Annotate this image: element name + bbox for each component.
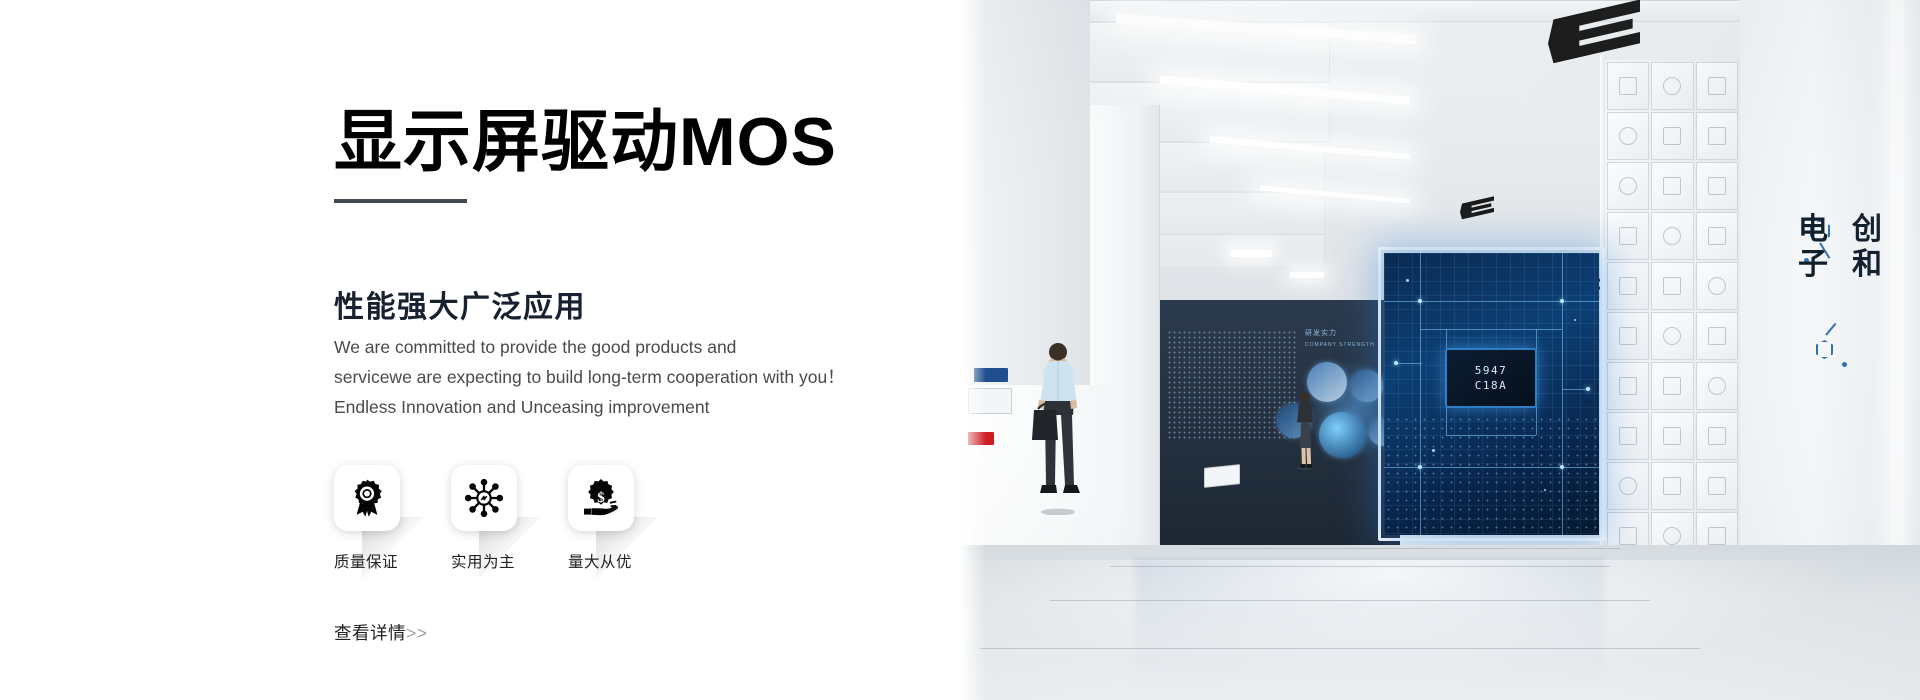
product-tile (1607, 162, 1649, 210)
floor-seam (1110, 566, 1610, 567)
product-tile (1607, 462, 1649, 510)
product-tile (1696, 362, 1738, 410)
product-tile (1607, 112, 1649, 160)
product-glyph-icon (1708, 177, 1726, 195)
floor-seam (980, 648, 1700, 649)
circuit-node (1560, 299, 1564, 303)
product-glyph-icon (1619, 427, 1637, 445)
floor-signage (1204, 464, 1240, 488)
hexagon-icon (1816, 340, 1833, 359)
product-glyph-icon (1619, 177, 1637, 195)
product-glyph-icon (1708, 377, 1726, 395)
product-tile (1696, 312, 1738, 360)
product-tile (1651, 462, 1693, 510)
circuit-node (1394, 361, 1398, 365)
product-glyph-icon (1619, 477, 1637, 495)
product-tile-wall (1605, 60, 1740, 560)
product-glyph-icon (1708, 277, 1726, 295)
banner-description: We are committed to provide the good pro… (334, 332, 894, 422)
feature-item-quality[interactable]: 质量保证 (334, 465, 423, 572)
product-tile (1696, 462, 1738, 510)
svg-text:$: $ (597, 490, 605, 506)
feature-badge (451, 465, 517, 531)
exhibit-title: 研发实力 (1305, 328, 1337, 338)
product-glyph-icon (1663, 127, 1681, 145)
banner-content: 显示屏驱动MOS 性能强大广泛应用 We are committed to pr… (334, 0, 934, 700)
product-tile (1696, 212, 1738, 260)
exhibit-subtitle: COMPANY STRENGTH (1305, 342, 1375, 348)
floor-seam (1200, 548, 1620, 549)
product-tile (1607, 262, 1649, 310)
feature-label: 质量保证 (334, 550, 398, 572)
circuit-trace (1562, 389, 1588, 390)
floor-highlight (960, 560, 1920, 700)
product-tile (1651, 362, 1693, 410)
product-glyph-icon (1619, 527, 1637, 545)
circuit-trace (1536, 329, 1537, 351)
title-divider (334, 199, 467, 203)
chip-graphic: 5947 C18A (1445, 348, 1537, 408)
chip-label-line-1: 5947 (1475, 363, 1508, 378)
product-glyph-icon (1619, 377, 1637, 395)
product-tile (1607, 212, 1649, 260)
photo-left-fade (960, 0, 986, 700)
ceiling-light (1290, 272, 1324, 278)
product-tile (1651, 112, 1693, 160)
product-glyph-icon (1663, 277, 1681, 295)
exhibit-thumbnail-chip (1319, 412, 1365, 458)
feature-list: 质量保证 (334, 465, 657, 572)
hexagon-link (1825, 323, 1836, 336)
circuit-trace (1420, 329, 1562, 330)
product-glyph-icon (1708, 527, 1726, 545)
view-details-arrows: >> (406, 623, 427, 643)
wall-brand-sign: 创和 电子 (1798, 212, 1908, 382)
product-glyph-icon (1619, 277, 1637, 295)
ceiling-light (1230, 250, 1272, 257)
banner-text-panel: 显示屏驱动MOS 性能强大广泛应用 We are committed to pr… (0, 0, 960, 700)
wall-brand-column-1: 创和 (1852, 212, 1904, 282)
product-glyph-icon (1663, 177, 1681, 195)
product-glyph-icon (1708, 327, 1726, 345)
product-glyph-icon (1619, 227, 1637, 245)
product-glyph-icon (1708, 477, 1726, 495)
circuit-trace (1396, 363, 1422, 364)
person-walking (1292, 390, 1318, 470)
product-glyph-icon (1663, 427, 1681, 445)
exhibit-back-wall: 研发实力 COMPANY STRENGTH (1155, 300, 1400, 550)
feature-label: 量大从优 (568, 550, 632, 572)
feature-item-practical[interactable]: 实用为主 (451, 465, 540, 572)
feature-item-bulk-discount[interactable]: $ 量大从优 (568, 465, 657, 572)
feature-badge (334, 465, 400, 531)
money-in-hand-icon: $ (581, 478, 621, 518)
product-tile (1696, 412, 1738, 460)
product-tile (1651, 212, 1693, 260)
description-line-3: Endless Innovation and Unceasing improve… (334, 392, 894, 422)
product-glyph-icon (1663, 377, 1681, 395)
product-glyph-icon (1708, 127, 1726, 145)
circuit-node (1418, 299, 1422, 303)
product-tile (1696, 262, 1738, 310)
page-title: 显示屏驱动MOS (334, 108, 837, 176)
product-tile (1651, 312, 1693, 360)
hexagon-node (1842, 362, 1847, 367)
product-tile (1651, 412, 1693, 460)
wall-brand-column-2: 电子 (1798, 212, 1850, 282)
product-tile (1607, 412, 1649, 460)
product-glyph-icon (1663, 477, 1681, 495)
led-display-wall: 5947 C18A (1384, 253, 1599, 535)
product-tile (1651, 262, 1693, 310)
circuit-node (1586, 387, 1590, 391)
chip-network-icon (464, 478, 504, 518)
product-glyph-icon (1663, 327, 1681, 345)
ceiling-panel (1135, 192, 1325, 234)
banner-subtitle: 性能强大广泛应用 (334, 293, 586, 323)
hero-banner: 显示屏驱动MOS 性能强大广泛应用 We are committed to pr… (0, 0, 1920, 700)
product-glyph-icon (1663, 527, 1681, 545)
person-standing (1028, 340, 1090, 515)
product-tile (1696, 162, 1738, 210)
product-tile (1607, 362, 1649, 410)
product-glyph-icon (1708, 227, 1726, 245)
product-tile (1607, 312, 1649, 360)
product-glyph-icon (1708, 427, 1726, 445)
product-tile (1607, 62, 1649, 110)
product-glyph-icon (1619, 127, 1637, 145)
led-particles (1384, 415, 1599, 535)
product-glyph-icon (1663, 227, 1681, 245)
wall-brand-characters: 创和 电子 (1798, 212, 1904, 282)
feature-badge: $ (568, 465, 634, 531)
product-tile (1696, 62, 1738, 110)
view-details-link[interactable]: 查看详情>> (334, 620, 427, 645)
showroom-photo: 创和 电子 (960, 0, 1920, 700)
award-ribbon-icon (347, 478, 387, 518)
view-details-label: 查看详情 (334, 623, 406, 643)
product-glyph-icon (1663, 77, 1681, 95)
chip-label-line-2: C18A (1475, 378, 1508, 393)
feature-label: 实用为主 (451, 550, 515, 572)
product-tile (1651, 62, 1693, 110)
product-glyph-icon (1619, 327, 1637, 345)
description-line-2: servicewe are expecting to build long-te… (334, 362, 894, 392)
circuit-trace (1384, 301, 1599, 302)
sparkle (1406, 279, 1409, 282)
product-glyph-icon (1708, 77, 1726, 95)
product-glyph-icon (1619, 77, 1637, 95)
description-line-1: We are committed to provide the good pro… (334, 332, 894, 362)
product-tile (1651, 162, 1693, 210)
product-tile (1696, 112, 1738, 160)
sparkle (1574, 319, 1576, 321)
floor-seam (1050, 600, 1650, 601)
